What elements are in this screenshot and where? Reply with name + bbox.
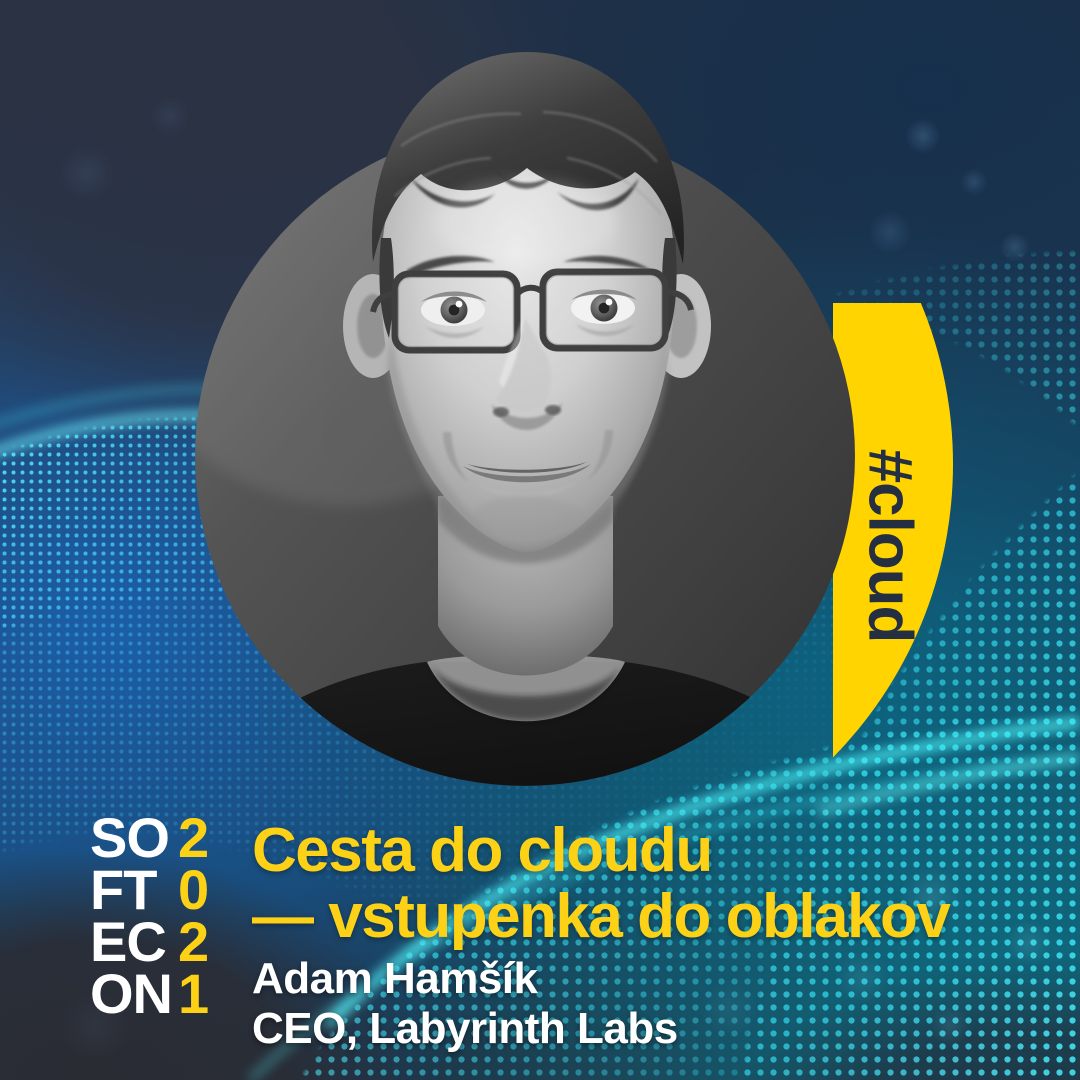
logo-word-row: ON [90,968,172,1020]
bokeh-dot [960,168,988,196]
logo-word-row: SO [90,812,172,864]
bokeh-dot [60,146,114,200]
talk-title-line1: Cesta do cloudu [252,816,712,885]
speaker-role: CEO, Labyrinth Labs [252,1004,1072,1054]
speaker-portrait [195,26,855,886]
logo-word-row: EC [90,916,172,968]
bokeh-dot [150,96,190,136]
logo-year-digit: 2 [172,916,208,968]
bokeh-dot [1000,232,1030,262]
talk-info: Cesta do cloudu — vstupenka do oblakov A… [252,818,1072,1054]
talk-title: Cesta do cloudu — vstupenka do oblakov [252,818,1072,950]
softecon-logo: SO FT EC ON 2 0 2 1 [90,812,208,1020]
logo-wordmark: SO FT EC ON [90,812,172,1020]
speaker-name: Adam Hamšík [252,954,1072,1004]
talk-title-line2: — vstupenka do oblakov [252,884,1072,950]
logo-word-row: FT [90,864,172,916]
bokeh-dot [868,210,912,254]
bokeh-dot [905,118,941,154]
logo-year-digit: 0 [172,864,208,916]
logo-year-digit: 2 [172,812,208,864]
logo-year-digit: 1 [172,968,208,1020]
logo-year: 2 0 2 1 [172,812,208,1020]
speaker-announcement-poster: #cloud [0,0,1080,1080]
